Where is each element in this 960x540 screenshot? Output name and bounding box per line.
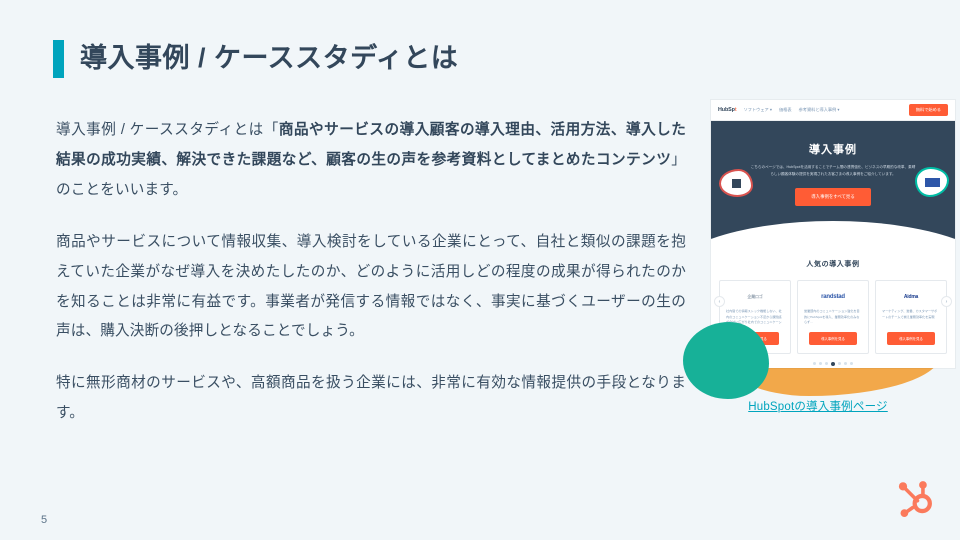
hubspot-sprocket-logo-icon bbox=[892, 476, 936, 520]
carousel-dot[interactable] bbox=[819, 362, 822, 365]
page-title: 導入事例 / ケーススタディとは bbox=[53, 40, 458, 78]
decorative-teal-blob bbox=[683, 322, 769, 399]
screenshot-hero: ヤマト運輸 ZenHyper 導入事例 こちらのページでは、HubSpotを活用… bbox=[711, 121, 955, 247]
navlink-software[interactable]: ソフトウェア ▾ bbox=[744, 107, 772, 113]
hero-content: 導入事例 こちらのページでは、HubSpotを活用することでチーム間の連携強化、… bbox=[711, 141, 955, 206]
case-card-button[interactable]: 導入事例を見る bbox=[887, 332, 935, 345]
case-card[interactable]: randstad 営業部内のコミュニケーション強化を目的にHubSpotを導入、… bbox=[797, 280, 869, 354]
case-card[interactable]: Aidma マーケティング、営業、カスタマーサポートのチームで揃え業務効率化を実… bbox=[875, 280, 947, 354]
title-text: 導入事例 / ケーススタディとは bbox=[80, 44, 458, 74]
navbar-cta-button[interactable]: 無料で始める bbox=[909, 104, 948, 116]
hero-cta-button[interactable]: 導入事例をすべて見る bbox=[795, 188, 870, 206]
case-card-description: 営業部内のコミュニケーション強化を目的にHubSpotを導入、業務効率化のみなら… bbox=[804, 309, 862, 326]
case-card-logo: randstad bbox=[821, 290, 845, 303]
carousel-next-arrow-icon[interactable]: › bbox=[941, 296, 952, 307]
carousel-dot[interactable] bbox=[825, 362, 828, 365]
logo-accent: t bbox=[735, 107, 737, 113]
carousel-dot[interactable] bbox=[844, 362, 847, 365]
paragraph-1: 導入事例 / ケーススタディとは「商品やサービスの導入顧客の導入理由、活用方法、… bbox=[56, 116, 686, 206]
reference-visual: HubSpt ソフトウェア ▾ 価格表 参考資料と導入事例 ▾ 無料で始める ヤ… bbox=[683, 100, 953, 420]
hero-title: 導入事例 bbox=[749, 141, 917, 157]
carousel-dot[interactable] bbox=[813, 362, 816, 365]
case-card-logo: 企業ロゴ bbox=[747, 290, 762, 303]
carousel-dot-active[interactable] bbox=[831, 362, 835, 366]
hero-curve-divider bbox=[711, 221, 955, 247]
caption-link-wrap: HubSpotの導入事例ページ bbox=[683, 397, 953, 415]
page-number: 5 bbox=[41, 514, 47, 526]
body-copy: 導入事例 / ケーススタディとは「商品やサービスの導入顧客の導入理由、活用方法、… bbox=[56, 116, 686, 429]
hubspot-logo-icon: HubSpt bbox=[718, 107, 737, 113]
hero-subtitle: こちらのページでは、HubSpotを活用することでチーム間の連携強化、ビジネスの… bbox=[749, 164, 917, 178]
case-card-logo: Aidma bbox=[904, 290, 918, 303]
paragraph-3: 特に無形商材のサービスや、高額商品を扱う企業には、非常に有効な情報提供の手段とな… bbox=[56, 369, 686, 429]
case-card-button[interactable]: 導入事例を見る bbox=[809, 332, 857, 345]
carousel-dot[interactable] bbox=[850, 362, 853, 365]
navlink-resources[interactable]: 参考資料と導入事例 ▾ bbox=[799, 107, 840, 113]
popular-cases-heading: 人気の導入事例 bbox=[711, 259, 955, 269]
screenshot-navbar: HubSpt ソフトウェア ▾ 価格表 参考資料と導入事例 ▾ 無料で始める bbox=[711, 100, 955, 121]
carousel-prev-arrow-icon[interactable]: ‹ bbox=[714, 296, 725, 307]
logo-text: HubSp bbox=[718, 107, 735, 113]
carousel-dot[interactable] bbox=[838, 362, 841, 365]
paragraph-2: 商品やサービスについて情報収集、導入検討をしている企業にとって、自社と類似の課題… bbox=[56, 228, 686, 348]
hubspot-case-study-link[interactable]: HubSpotの導入事例ページ bbox=[748, 401, 888, 413]
navlink-pricing[interactable]: 価格表 bbox=[779, 107, 792, 113]
title-accent-bar bbox=[53, 40, 64, 78]
paragraph-1-lead: 導入事例 / ケーススタディとは「 bbox=[56, 122, 279, 138]
case-card-description: マーケティング、営業、カスタマーサポートのチームで揃え業務効率化を実現 bbox=[882, 309, 940, 320]
